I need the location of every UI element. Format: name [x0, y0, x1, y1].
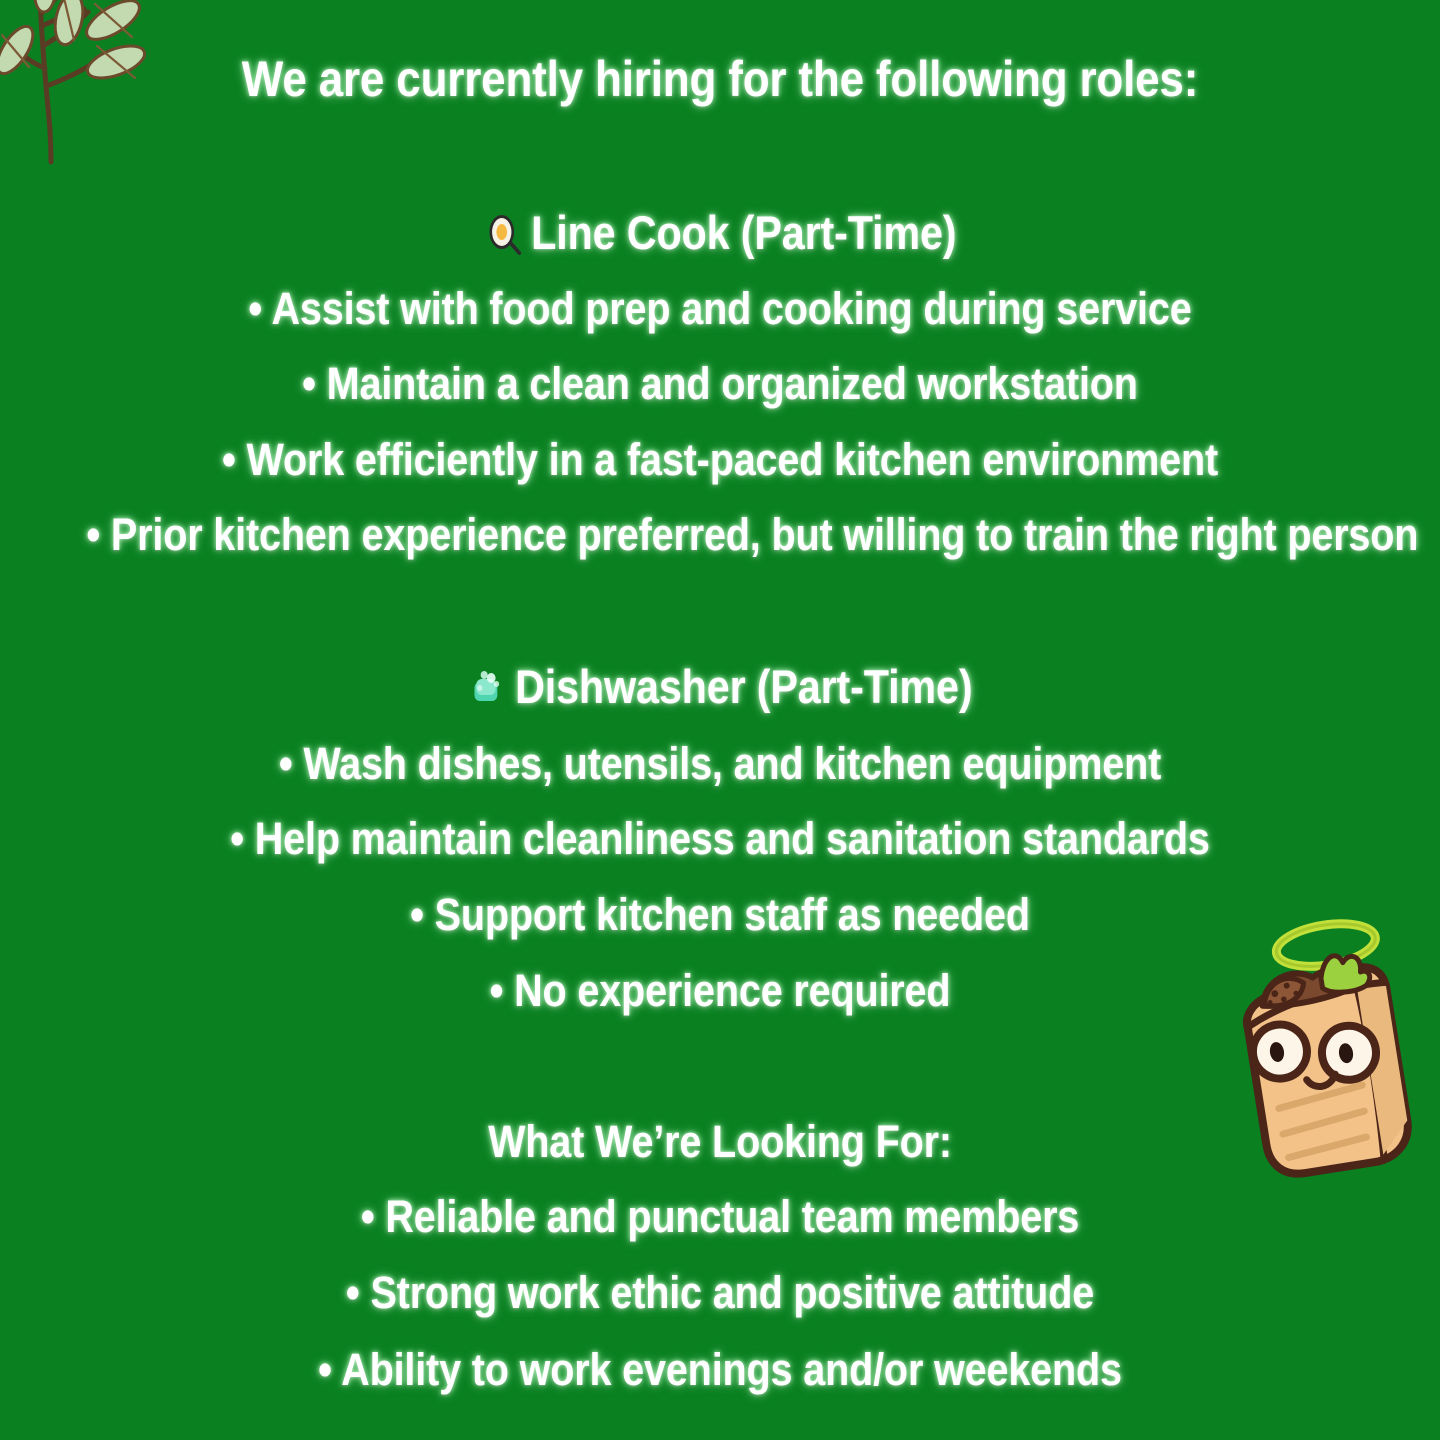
bullet-looking-for-1: • Reliable and punctual team members [86, 1189, 1353, 1245]
poster-text-content: We are currently hiring for the followin… [0, 0, 1440, 1440]
bullet-looking-for-2: • Strong work ethic and positive attitud… [86, 1265, 1353, 1321]
role-title-dishwasher: Dishwasher (Part-Time) [515, 660, 972, 713]
bullet-dishwasher-4: • No experience required [86, 963, 1353, 1019]
bullet-dishwasher-1: • Wash dishes, utensils, and kitchen equ… [86, 736, 1353, 792]
bullet-looking-for-3: • Ability to work evenings and/or weeken… [86, 1342, 1353, 1398]
hiring-poster: We are currently hiring for the followin… [0, 0, 1440, 1440]
soap-bar-icon [468, 665, 507, 709]
bullet-line-cook-1: • Assist with food prep and cooking duri… [86, 281, 1353, 337]
bullet-line-cook-3: • Work efficiently in a fast-paced kitch… [86, 432, 1353, 488]
page-title: We are currently hiring for the followin… [86, 48, 1353, 110]
bullet-line-cook-4: • Prior kitchen experience preferred, bu… [86, 507, 1353, 563]
section-heading-looking-for: What We’re Looking For: [86, 1114, 1353, 1170]
role-title-line-cook: Line Cook (Part-Time) [531, 206, 956, 259]
bullet-dishwasher-3: • Support kitchen staff as needed [86, 887, 1353, 943]
role-heading-dishwasher: Dishwasher (Part-Time) [86, 658, 1353, 716]
fried-egg-icon [484, 211, 523, 255]
role-heading-line-cook: Line Cook (Part-Time) [86, 204, 1353, 262]
bullet-dishwasher-2: • Help maintain cleanliness and sanitati… [86, 811, 1353, 867]
bullet-line-cook-2: • Maintain a clean and organized worksta… [86, 356, 1353, 412]
